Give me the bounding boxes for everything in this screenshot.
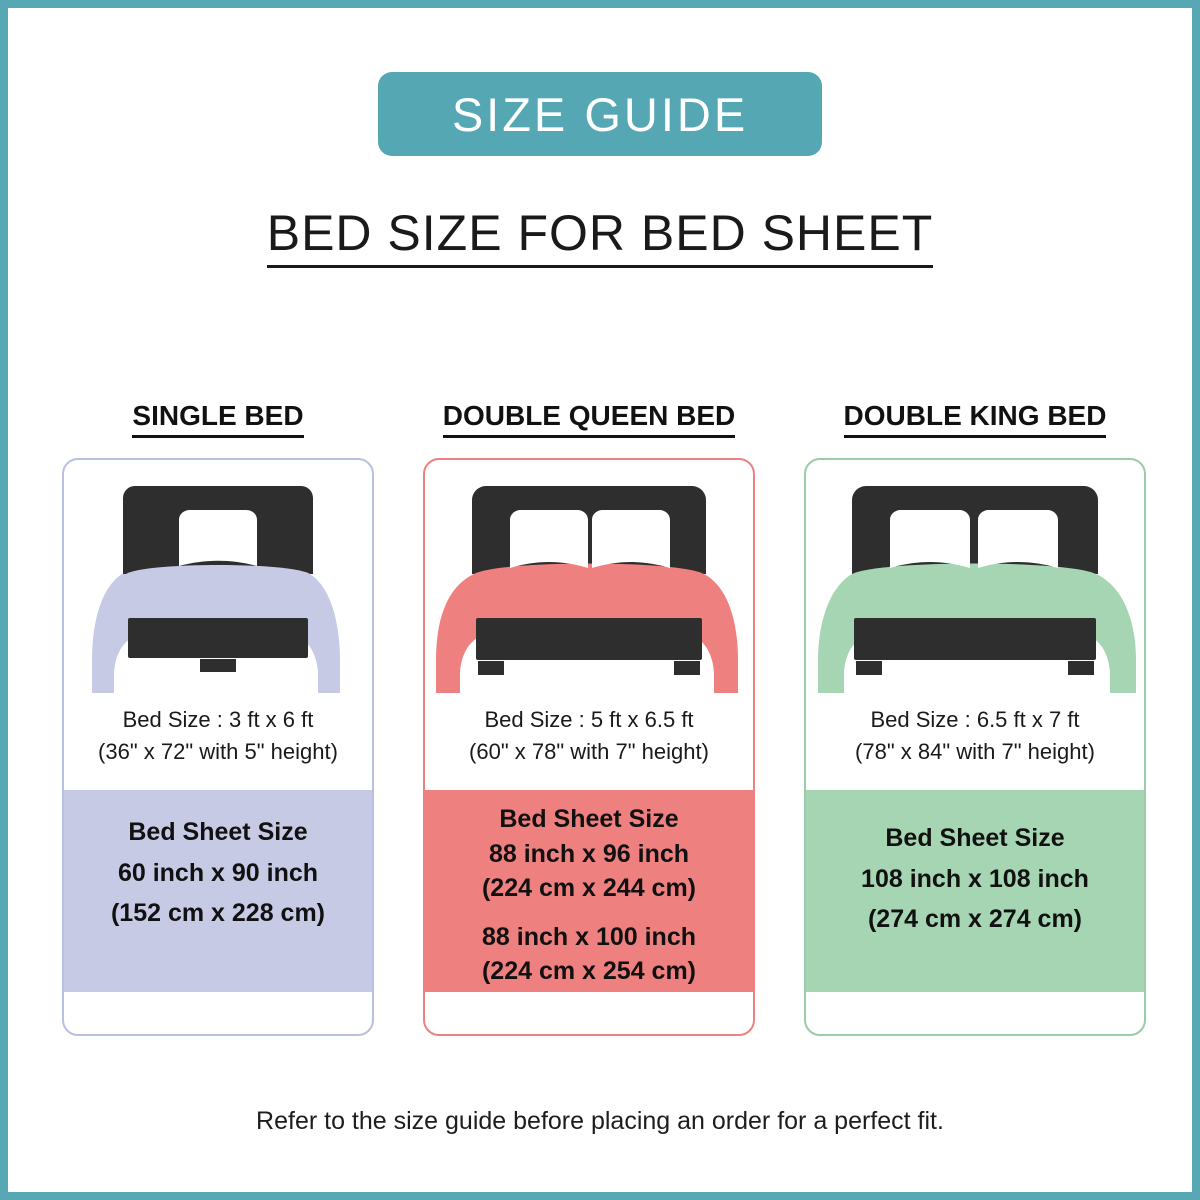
sheet-size-panel-queen: Bed Sheet Size 88 inch x 96 inch (224 cm… (425, 790, 753, 992)
card-double-king-bed: Bed Size : 6.5 ft x 7 ft (78" x 84" with… (804, 458, 1146, 1036)
footer-note: Refer to the size guide before placing a… (8, 1107, 1192, 1136)
column-heading-single-label: SINGLE BED (132, 400, 303, 438)
king-bed-icon (810, 478, 1140, 693)
sheet-size-title: Bed Sheet Size (806, 818, 1144, 859)
sheet-size-panel-king: Bed Sheet Size 108 inch x 108 inch (274 … (806, 790, 1144, 992)
bed-size-block-single: Bed Size : 3 ft x 6 ft (36" x 72" with 5… (64, 696, 372, 768)
bed-size-line-1: Bed Size : 5 ft x 6.5 ft (425, 704, 753, 736)
size-guide-page: SIZE GUIDE BED SIZE FOR BED SHEET SINGLE… (0, 0, 1200, 1200)
column-heading-king-label: DOUBLE KING BED (844, 400, 1107, 438)
banner-container: SIZE GUIDE (8, 72, 1192, 156)
bed-size-line-1: Bed Size : 3 ft x 6 ft (64, 704, 372, 736)
bed-size-block-king: Bed Size : 6.5 ft x 7 ft (78" x 84" with… (806, 696, 1144, 768)
sheet-size-line-cm: (274 cm x 274 cm) (806, 899, 1144, 940)
page-title-container: BED SIZE FOR BED SHEET (8, 206, 1192, 268)
bed-size-line-1: Bed Size : 6.5 ft x 7 ft (806, 704, 1144, 736)
sheet-size-alt-line-inch: 88 inch x 100 inch (425, 920, 753, 955)
sheet-size-panel-single: Bed Sheet Size 60 inch x 90 inch (152 cm… (64, 790, 372, 992)
sheet-size-title: Bed Sheet Size (64, 812, 372, 853)
bed-size-line-2: (78" x 84" with 7" height) (806, 736, 1144, 768)
sheet-size-line-cm: (152 cm x 228 cm) (64, 893, 372, 934)
single-bed-icon (88, 478, 348, 693)
sheet-size-title: Bed Sheet Size (425, 802, 753, 837)
bed-size-line-2: (36" x 72" with 5" height) (64, 736, 372, 768)
bed-illustration-king (806, 460, 1144, 696)
sheet-size-line-cm: (224 cm x 244 cm) (425, 871, 753, 906)
column-heading-queen: DOUBLE QUEEN BED (423, 400, 755, 438)
queen-bed-icon (434, 478, 744, 693)
card-single-bed: Bed Size : 3 ft x 6 ft (36" x 72" with 5… (62, 458, 374, 1036)
sheet-size-line-inch: 60 inch x 90 inch (64, 853, 372, 894)
bed-illustration-queen (425, 460, 753, 696)
bed-size-columns: SINGLE BED (62, 400, 1146, 1036)
column-double-queen-bed: DOUBLE QUEEN BED (423, 400, 755, 1036)
column-heading-queen-label: DOUBLE QUEEN BED (443, 400, 735, 438)
column-heading-king: DOUBLE KING BED (804, 400, 1146, 438)
sheet-size-spacer (425, 906, 753, 920)
column-heading-single: SINGLE BED (62, 400, 374, 438)
sheet-size-line-inch: 88 inch x 96 inch (425, 837, 753, 872)
bed-size-line-2: (60" x 78" with 7" height) (425, 736, 753, 768)
card-double-queen-bed: Bed Size : 5 ft x 6.5 ft (60" x 78" with… (423, 458, 755, 1036)
column-single-bed: SINGLE BED (62, 400, 374, 1036)
bed-illustration-single (64, 460, 372, 696)
page-title: BED SIZE FOR BED SHEET (267, 206, 934, 268)
sheet-size-alt-line-cm: (224 cm x 254 cm) (425, 954, 753, 989)
bed-size-block-queen: Bed Size : 5 ft x 6.5 ft (60" x 78" with… (425, 696, 753, 768)
banner-label: SIZE GUIDE (452, 91, 748, 138)
sheet-size-line-inch: 108 inch x 108 inch (806, 859, 1144, 900)
column-double-king-bed: DOUBLE KING BED (804, 400, 1146, 1036)
size-guide-banner: SIZE GUIDE (378, 72, 822, 156)
